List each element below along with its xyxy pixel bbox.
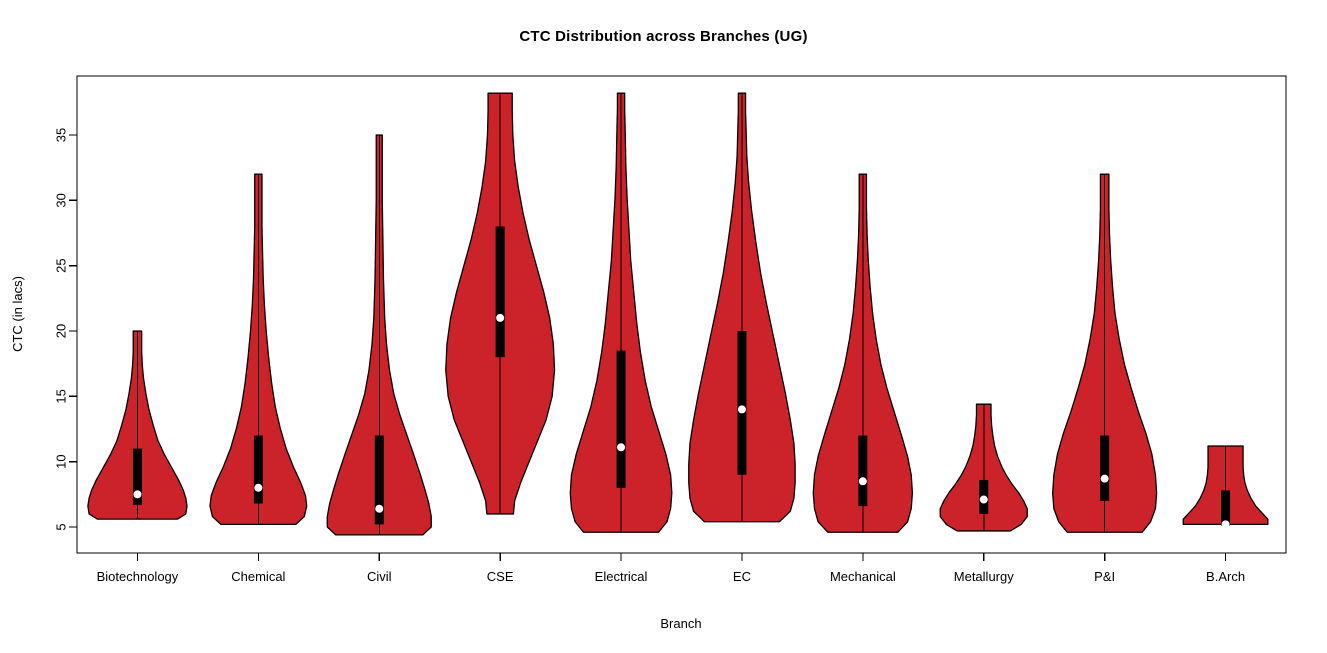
iqr-box [858, 436, 867, 507]
violin-b-arch[interactable] [1183, 446, 1268, 528]
iqr-box [254, 436, 263, 504]
y-axis-label: CTC (in lacs) [10, 276, 25, 352]
median-marker [133, 490, 141, 498]
x-tick-label-chemical: Chemical [231, 569, 285, 584]
violin-p-i[interactable] [1053, 174, 1157, 532]
median-marker [738, 405, 746, 413]
x-tick-label-ec: EC [733, 569, 751, 584]
violin-chart: 5101520253035 BiotechnologyChemicalCivil… [0, 0, 1327, 653]
y-tick-label: 10 [54, 454, 69, 468]
median-marker [1101, 475, 1109, 483]
violin-mechanical[interactable] [813, 174, 912, 532]
violin-electrical[interactable] [570, 93, 672, 532]
x-tick-label-mechanical: Mechanical [830, 569, 896, 584]
y-tick-label: 35 [54, 128, 69, 142]
y-tick-label: 30 [54, 193, 69, 207]
x-tick-label-biotechnology: Biotechnology [97, 569, 179, 584]
median-marker [1222, 520, 1230, 528]
y-tick-label: 25 [54, 258, 69, 272]
x-tick-label-cse: CSE [487, 569, 514, 584]
median-marker [859, 477, 867, 485]
violin-civil[interactable] [327, 135, 431, 535]
median-marker [254, 484, 262, 492]
x-tick-label-metallurgy: Metallurgy [954, 569, 1014, 584]
violin-chemical[interactable] [210, 174, 307, 524]
median-marker [617, 443, 625, 451]
violin-biotechnology[interactable] [88, 331, 187, 519]
x-tick-label-electrical: Electrical [595, 569, 648, 584]
y-tick-label: 15 [54, 389, 69, 403]
iqr-box [617, 351, 626, 488]
violin-cse[interactable] [446, 93, 555, 514]
violin-metallurgy[interactable] [940, 404, 1027, 531]
y-tick-label: 5 [54, 523, 69, 530]
violin-ec[interactable] [689, 93, 795, 522]
x-tick-label-civil: Civil [367, 569, 392, 584]
iqr-box [1100, 436, 1109, 501]
violin-plot-page: CTC Distribution across Branches (UG) 51… [0, 0, 1327, 653]
y-axis-ticks: 5101520253035 [54, 128, 78, 531]
x-tick-label-p-i: P&I [1094, 569, 1115, 584]
iqr-box [496, 226, 505, 357]
median-marker [980, 496, 988, 504]
x-axis-label: Branch [660, 616, 701, 631]
iqr-box [737, 331, 746, 475]
y-tick-label: 20 [54, 324, 69, 338]
median-marker [496, 314, 504, 322]
median-marker [375, 505, 383, 513]
x-axis-ticks: BiotechnologyChemicalCivilCSEElectricalE… [97, 553, 1245, 584]
x-tick-label-b-arch: B.Arch [1206, 569, 1245, 584]
violins-group [88, 93, 1268, 535]
